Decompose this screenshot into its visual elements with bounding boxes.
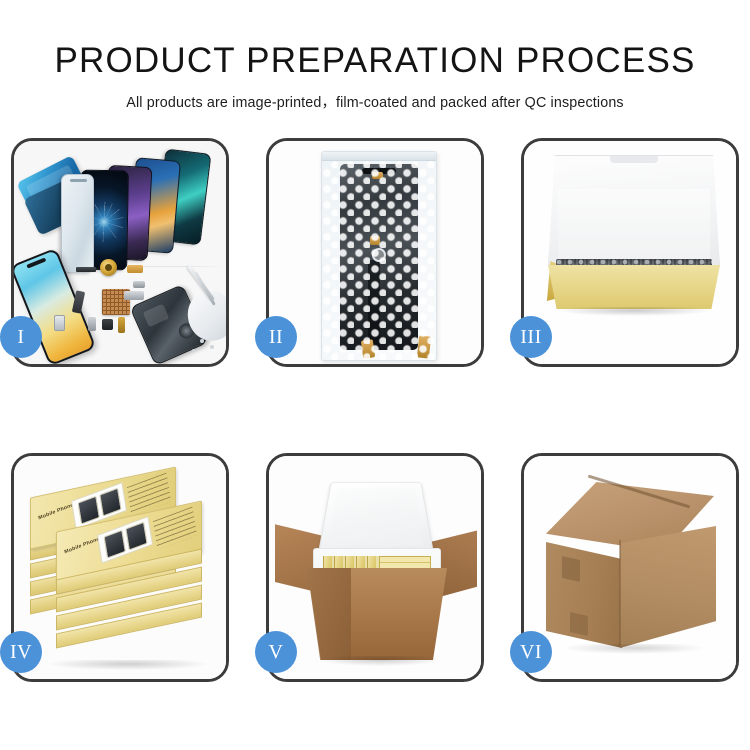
process-step-5: V (266, 453, 484, 682)
chip-bar-component-icon (76, 267, 96, 272)
step-5-image (269, 456, 481, 679)
bag-seal-edge (322, 152, 436, 161)
small-part-icon (118, 317, 125, 333)
process-step-6: VI (521, 453, 739, 682)
step-1-image (14, 141, 226, 364)
process-step-grid: I II (11, 138, 739, 683)
tempered-glass-panel (61, 174, 94, 273)
step-2-image (269, 141, 481, 364)
box-label-product-photo (97, 516, 153, 564)
product-preparation-process-infographic: PRODUCT PREPARATION PROCESS All products… (0, 0, 750, 750)
carton-vertical-edge (619, 540, 621, 646)
screw-icon (210, 345, 214, 349)
step-badge-5: V (255, 631, 297, 673)
step-badge-1: I (0, 316, 42, 358)
flex-cable-component-icon (127, 265, 143, 273)
step-3-image (524, 141, 736, 364)
yellow-box-base (548, 265, 720, 309)
step-badge-2: II (255, 316, 297, 358)
process-step-2: II (266, 138, 484, 367)
small-part-icon (133, 281, 145, 288)
small-part-icon (88, 317, 96, 331)
process-step-1: I (11, 138, 229, 367)
step-4-image: Mobile Phone Spare Parts Mobile Phone Sp… (14, 456, 226, 679)
carton-tape-patch (562, 556, 580, 582)
drop-shadow (564, 644, 704, 654)
foam-inner-sheet (558, 189, 710, 267)
step-6-image (524, 456, 736, 679)
sim-tray-icon (54, 315, 65, 331)
process-step-4: Mobile Phone Spare Parts Mobile Phone Sp… (11, 453, 229, 682)
header: PRODUCT PREPARATION PROCESS All products… (0, 40, 750, 112)
stacked-retail-boxes: Mobile Phone Spare Parts Mobile Phone Sp… (24, 474, 220, 670)
phone-thumbnail-icon (99, 487, 121, 516)
page-title: PRODUCT PREPARATION PROCESS (0, 40, 750, 82)
step-badge-3: III (510, 316, 552, 358)
carton-tape-patch (570, 612, 588, 636)
drop-shadow (558, 307, 710, 316)
step-badge-6: VI (510, 631, 552, 673)
screw-icon (192, 349, 195, 352)
bubble-wrap-bag (321, 151, 437, 361)
bubble-texture (322, 152, 436, 360)
foam-liner-lid (318, 482, 435, 555)
screw-icon (200, 339, 204, 343)
page-subtitle: All products are image-printed，film-coat… (0, 91, 750, 112)
flex-cable-component-icon (124, 291, 144, 300)
speaker-coil-component-icon (100, 259, 117, 276)
box-label-spec-lines (153, 507, 197, 550)
phone-thumbnail-icon (103, 529, 125, 558)
phone-thumbnail-icon (77, 495, 99, 524)
small-part-icon (102, 319, 113, 330)
process-step-3: III (521, 138, 739, 367)
drop-shadow (48, 660, 208, 670)
step-badge-4: IV (0, 631, 42, 673)
phone-thumbnail-icon (125, 521, 147, 550)
drop-shadow (321, 656, 439, 666)
